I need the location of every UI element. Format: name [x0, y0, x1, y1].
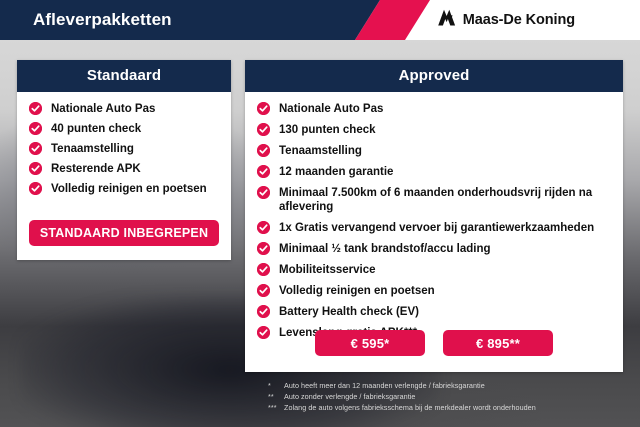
check-circle-icon: [257, 102, 270, 115]
feature-label: Tenaamstelling: [51, 143, 134, 155]
feature-label: Tenaamstelling: [279, 145, 362, 157]
footnote-marker: ***: [268, 402, 284, 413]
maas-de-koning-logo-mark-icon: [437, 9, 456, 31]
check-circle-icon: [257, 186, 270, 199]
list-item: Mobiliteitsservice: [257, 263, 611, 277]
list-item: 1x Gratis vervangend vervoer bij garanti…: [257, 221, 611, 235]
feature-label: 1x Gratis vervangend vervoer bij garanti…: [279, 222, 594, 234]
footnotes: * Auto heeft meer dan 12 maanden verleng…: [268, 380, 628, 413]
footnote-text: Auto heeft meer dan 12 maanden verlengde…: [284, 380, 628, 391]
check-circle-icon: [257, 305, 270, 318]
package-body-approved: Nationale Auto Pas 130 punten check: [245, 92, 623, 340]
feature-label: Volledig reinigen en poetsen: [279, 285, 435, 297]
afleverpakketten-page: Afleverpakketten Maas-De Koning Standaar…: [0, 0, 640, 427]
list-item: Minimaal 7.500km of 6 maanden onderhouds…: [257, 186, 611, 214]
package-body-standaard: Nationale Auto Pas 40 punten check: [17, 92, 231, 196]
feature-list-approved: Nationale Auto Pas 130 punten check: [257, 102, 611, 340]
check-circle-icon: [29, 182, 42, 195]
footnote-marker: **: [268, 391, 284, 402]
feature-label: 130 punten check: [279, 124, 376, 136]
list-item: Battery Health check (EV): [257, 305, 611, 319]
list-item: Nationale Auto Pas: [29, 102, 219, 116]
price-button-row: € 595* € 895**: [245, 330, 623, 356]
footnote-item: *** Zolang de auto volgens fabrieksschem…: [268, 402, 628, 413]
list-item: Minimaal ½ tank brandstof/accu lading: [257, 242, 611, 256]
list-item: 40 punten check: [29, 122, 219, 136]
list-item: 12 maanden garantie: [257, 165, 611, 179]
check-circle-icon: [257, 242, 270, 255]
footnote-item: * Auto heeft meer dan 12 maanden verleng…: [268, 380, 628, 391]
feature-list-standaard: Nationale Auto Pas 40 punten check: [29, 102, 219, 196]
check-circle-icon: [257, 263, 270, 276]
list-item: Nationale Auto Pas: [257, 102, 611, 116]
list-item: 130 punten check: [257, 123, 611, 137]
list-item: Volledig reinigen en poetsen: [257, 284, 611, 298]
feature-label: 12 maanden garantie: [279, 166, 393, 178]
price-button-595[interactable]: € 595*: [315, 330, 425, 356]
list-item: Tenaamstelling: [257, 144, 611, 158]
check-circle-icon: [257, 123, 270, 136]
price-button-895[interactable]: € 895**: [443, 330, 553, 356]
list-item: Volledig reinigen en poetsen: [29, 182, 219, 196]
check-circle-icon: [257, 165, 270, 178]
check-circle-icon: [29, 162, 42, 175]
feature-label: Battery Health check (EV): [279, 306, 419, 318]
standaard-inbegrepen-button[interactable]: STANDAARD INBEGREPEN: [29, 220, 219, 246]
feature-label: Volledig reinigen en poetsen: [51, 183, 207, 195]
feature-label: Minimaal ½ tank brandstof/accu lading: [279, 243, 491, 255]
package-title-standaard: Standaard: [17, 60, 231, 92]
check-circle-icon: [257, 284, 270, 297]
check-circle-icon: [29, 142, 42, 155]
package-card-approved: Approved Nationale Auto Pas: [245, 60, 623, 372]
footnote-text: Zolang de auto volgens fabrieksschema bi…: [284, 402, 628, 413]
feature-label: Mobiliteitsservice: [279, 264, 376, 276]
check-circle-icon: [29, 102, 42, 115]
footnote-text: Auto zonder verlengde / fabrieksgarantie: [284, 391, 628, 402]
page-header: Afleverpakketten Maas-De Koning: [0, 0, 640, 40]
brand-name: Maas-De Koning: [463, 12, 575, 28]
brand-logo: Maas-De Koning: [437, 9, 575, 31]
feature-label: Nationale Auto Pas: [51, 103, 155, 115]
check-circle-icon: [257, 221, 270, 234]
package-card-standaard: Standaard Nationale Auto Pas: [17, 60, 231, 260]
check-circle-icon: [29, 122, 42, 135]
feature-label: Minimaal 7.500km of 6 maanden onderhouds…: [279, 187, 592, 213]
footnote-item: ** Auto zonder verlengde / fabrieksgaran…: [268, 391, 628, 402]
list-item: Resterende APK: [29, 162, 219, 176]
feature-label: 40 punten check: [51, 123, 141, 135]
feature-label: Resterende APK: [51, 163, 141, 175]
page-title: Afleverpakketten: [33, 9, 172, 31]
feature-label: Nationale Auto Pas: [279, 103, 383, 115]
list-item: Tenaamstelling: [29, 142, 219, 156]
check-circle-icon: [257, 144, 270, 157]
footnote-marker: *: [268, 380, 284, 391]
package-title-approved: Approved: [245, 60, 623, 92]
